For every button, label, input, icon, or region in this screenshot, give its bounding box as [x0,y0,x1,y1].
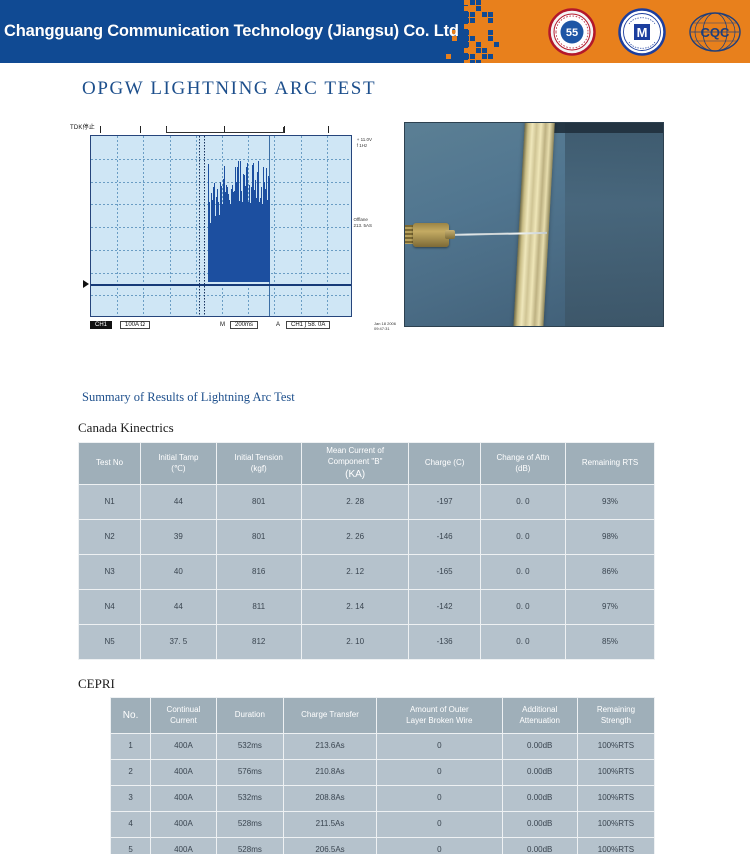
kinectrics-results-table: Test NoInitial Tamp(℃)Initial Tension(kg… [78,442,655,660]
cell-r3-c4: 0 [377,812,502,838]
cell-r4-c5: 0. 0 [480,625,565,660]
cell-r4-c1: 400A [151,838,217,854]
cell-r1-c0: 2 [111,760,151,786]
cell-r1-c4: -146 [409,520,480,555]
cell-r0-c1: 44 [141,485,216,520]
column-header-0: No. [111,698,151,734]
cell-r3-c3: 2. 14 [301,590,409,625]
cell-r1-c5: 0. 0 [480,520,565,555]
cell-r2-c3: 208.8As [283,786,376,812]
opgw-cable [513,122,555,327]
kinectrics-heading: Canada Kinectrics [78,420,174,436]
column-header-3: Mean Current ofComponent "B"(KA) [301,443,409,485]
cell-r4-c0: N5 [79,625,141,660]
table-row: N4448112. 14-1420. 097% [79,590,655,625]
cell-r4-c0: 5 [111,838,151,854]
cell-r4-c2: 812 [216,625,301,660]
scope-channel-chip: CH1 [90,321,112,329]
scope-timebase-prefix: M [220,322,225,328]
scope-window-bracket [166,127,284,133]
scope-graticule [90,135,352,317]
cell-r2-c5: 0. 0 [480,555,565,590]
cell-r1-c1: 400A [151,760,217,786]
svg-text:M: M [637,25,648,40]
arc-test-specimen-photo [404,122,664,327]
scope-status-label: TDK停止 [70,122,95,131]
cqc-certification-logo: CQC [688,8,736,56]
cell-r2-c6: 86% [566,555,655,590]
column-header-1: ContinualCurrent [151,698,217,734]
cell-r0-c4: 0 [377,734,502,760]
cell-r0-c1: 400A [151,734,217,760]
cell-r1-c3: 2. 26 [301,520,409,555]
scope-side-readout-top: + 11.0V f 1Hz [357,137,372,148]
column-header-6: RemainingStrength [577,698,654,734]
cell-r3-c2: 811 [216,590,301,625]
cepri-heading: CEPRI [78,676,115,692]
cell-r2-c1: 400A [151,786,217,812]
cell-r2-c3: 2. 12 [301,555,409,590]
cell-r1-c2: 801 [216,520,301,555]
scope-baseline-trace [91,284,351,286]
svg-text:55: 55 [566,27,578,39]
column-header-0: Test No [79,443,141,485]
cell-r3-c6: 97% [566,590,655,625]
table-header-row: Test NoInitial Tamp(℃)Initial Tension(kg… [79,443,655,485]
oscilloscope-waveform-image: TDK停止 + 11.0V f 1Hz Offlane 213. 5AS CH1… [68,122,374,337]
cell-r4-c1: 37. 5 [141,625,216,660]
cell-r1-c5: 0.00dB [502,760,577,786]
column-header-4: Charge (C) [409,443,480,485]
cell-r4-c6: 85% [566,625,655,660]
scope-top-ruler [100,126,350,134]
column-header-3: Charge Transfer [283,698,376,734]
cepri-results-table: No.ContinualCurrentDurationCharge Transf… [110,697,655,854]
cell-r0-c2: 801 [216,485,301,520]
scope-bottom-readout: CH1 100A Ω M 200ms A CH1 ∫ 58. 0A [90,320,352,332]
table-row: 3400A532ms208.8As00.00dB100%RTS [111,786,655,812]
cell-r3-c0: N4 [79,590,141,625]
cell-r1-c3: 210.8As [283,760,376,786]
table-row: N1448012. 28-1970. 093% [79,485,655,520]
table-row: N2398012. 26-1460. 098% [79,520,655,555]
cell-r2-c1: 40 [141,555,216,590]
table-row: 2400A576ms210.8As00.00dB100%RTS [111,760,655,786]
cell-r1-c2: 576ms [216,760,283,786]
table-row: 5400A528ms206.5As00.00dB100%RTS [111,838,655,854]
scope-trigger-prefix: A [276,322,280,328]
certification-logos: 55 M [548,5,736,58]
scope-timebase-value: 200ms [230,321,258,329]
page-title: OPGW LIGHTNING ARC TEST [82,78,376,100]
cell-r0-c5: 0. 0 [480,485,565,520]
iso-certification-logo: 55 [548,8,596,56]
column-header-2: Initial Tension(kgf) [216,443,301,485]
column-header-5: Change of Attn(dB) [480,443,565,485]
cell-r3-c5: 0. 0 [480,590,565,625]
cell-r3-c1: 400A [151,812,217,838]
cell-r4-c5: 0.00dB [502,838,577,854]
cell-r0-c4: -197 [409,485,480,520]
cell-r4-c4: 0 [377,838,502,854]
cell-r3-c4: -142 [409,590,480,625]
table-row: N3408162. 12-1650. 086% [79,555,655,590]
cell-r1-c1: 39 [141,520,216,555]
cell-r4-c4: -136 [409,625,480,660]
cell-r2-c2: 816 [216,555,301,590]
cell-r4-c6: 100%RTS [577,838,654,854]
scope-timestamp: Jan 18 2006 09:47:31 [374,321,396,331]
cell-r0-c2: 532ms [216,734,283,760]
cell-r2-c0: N3 [79,555,141,590]
cell-r1-c4: 0 [377,760,502,786]
cell-r1-c0: N2 [79,520,141,555]
cell-r3-c6: 100%RTS [577,812,654,838]
scope-channel-marker-icon [83,280,89,288]
cell-r3-c1: 44 [141,590,216,625]
cell-r3-c0: 4 [111,812,151,838]
scope-trigger-value: CH1 ∫ 58. 0A [286,321,330,329]
electrode-bolt [413,223,449,247]
scope-side-readout-mid: Offlane 213. 5AS [353,217,372,228]
cell-r2-c4: 0 [377,786,502,812]
column-header-6: Remaining RTS [566,443,655,485]
cell-r0-c6: 93% [566,485,655,520]
cell-r2-c4: -165 [409,555,480,590]
photo-background-panel [565,123,663,326]
cell-r0-c3: 213.6As [283,734,376,760]
table-row: 1400A532ms213.6As00.00dB100%RTS [111,734,655,760]
photo-top-shadow [545,123,663,133]
cell-r4-c3: 206.5As [283,838,376,854]
table-row: N537. 58122. 10-1360. 085% [79,625,655,660]
cell-r2-c5: 0.00dB [502,786,577,812]
cell-r2-c0: 3 [111,786,151,812]
column-header-5: AdditionalAttenuation [502,698,577,734]
cell-r1-c6: 98% [566,520,655,555]
svg-text:CQC: CQC [701,25,731,40]
cell-r4-c3: 2. 10 [301,625,409,660]
site-header: Changguang Communication Technology (Jia… [0,0,750,63]
cell-r0-c6: 100%RTS [577,734,654,760]
summary-heading: Summary of Results of Lightning Arc Test [82,390,295,405]
cell-r0-c0: 1 [111,734,151,760]
table-header-row: No.ContinualCurrentDurationCharge Transf… [111,698,655,734]
column-header-2: Duration [216,698,283,734]
scope-channel-scale: 100A Ω [120,321,150,329]
cell-r4-c2: 528ms [216,838,283,854]
document-page: Changguang Communication Technology (Jia… [0,0,750,854]
cell-r2-c2: 532ms [216,786,283,812]
cell-r0-c3: 2. 28 [301,485,409,520]
cell-r0-c0: N1 [79,485,141,520]
cell-r2-c6: 100%RTS [577,786,654,812]
cell-r1-c6: 100%RTS [577,760,654,786]
column-header-1: Initial Tamp(℃) [141,443,216,485]
cell-r3-c3: 211.5As [283,812,376,838]
cell-r3-c5: 0.00dB [502,812,577,838]
cell-r3-c2: 528ms [216,812,283,838]
quality-certification-logo: M [618,8,666,56]
column-header-4: Amount of OuterLayer Broken Wire [377,698,502,734]
company-name: Changguang Communication Technology (Jia… [4,22,459,41]
electrode-tip [445,230,455,239]
table-row: 4400A528ms211.5As00.00dB100%RTS [111,812,655,838]
cell-r0-c5: 0.00dB [502,734,577,760]
